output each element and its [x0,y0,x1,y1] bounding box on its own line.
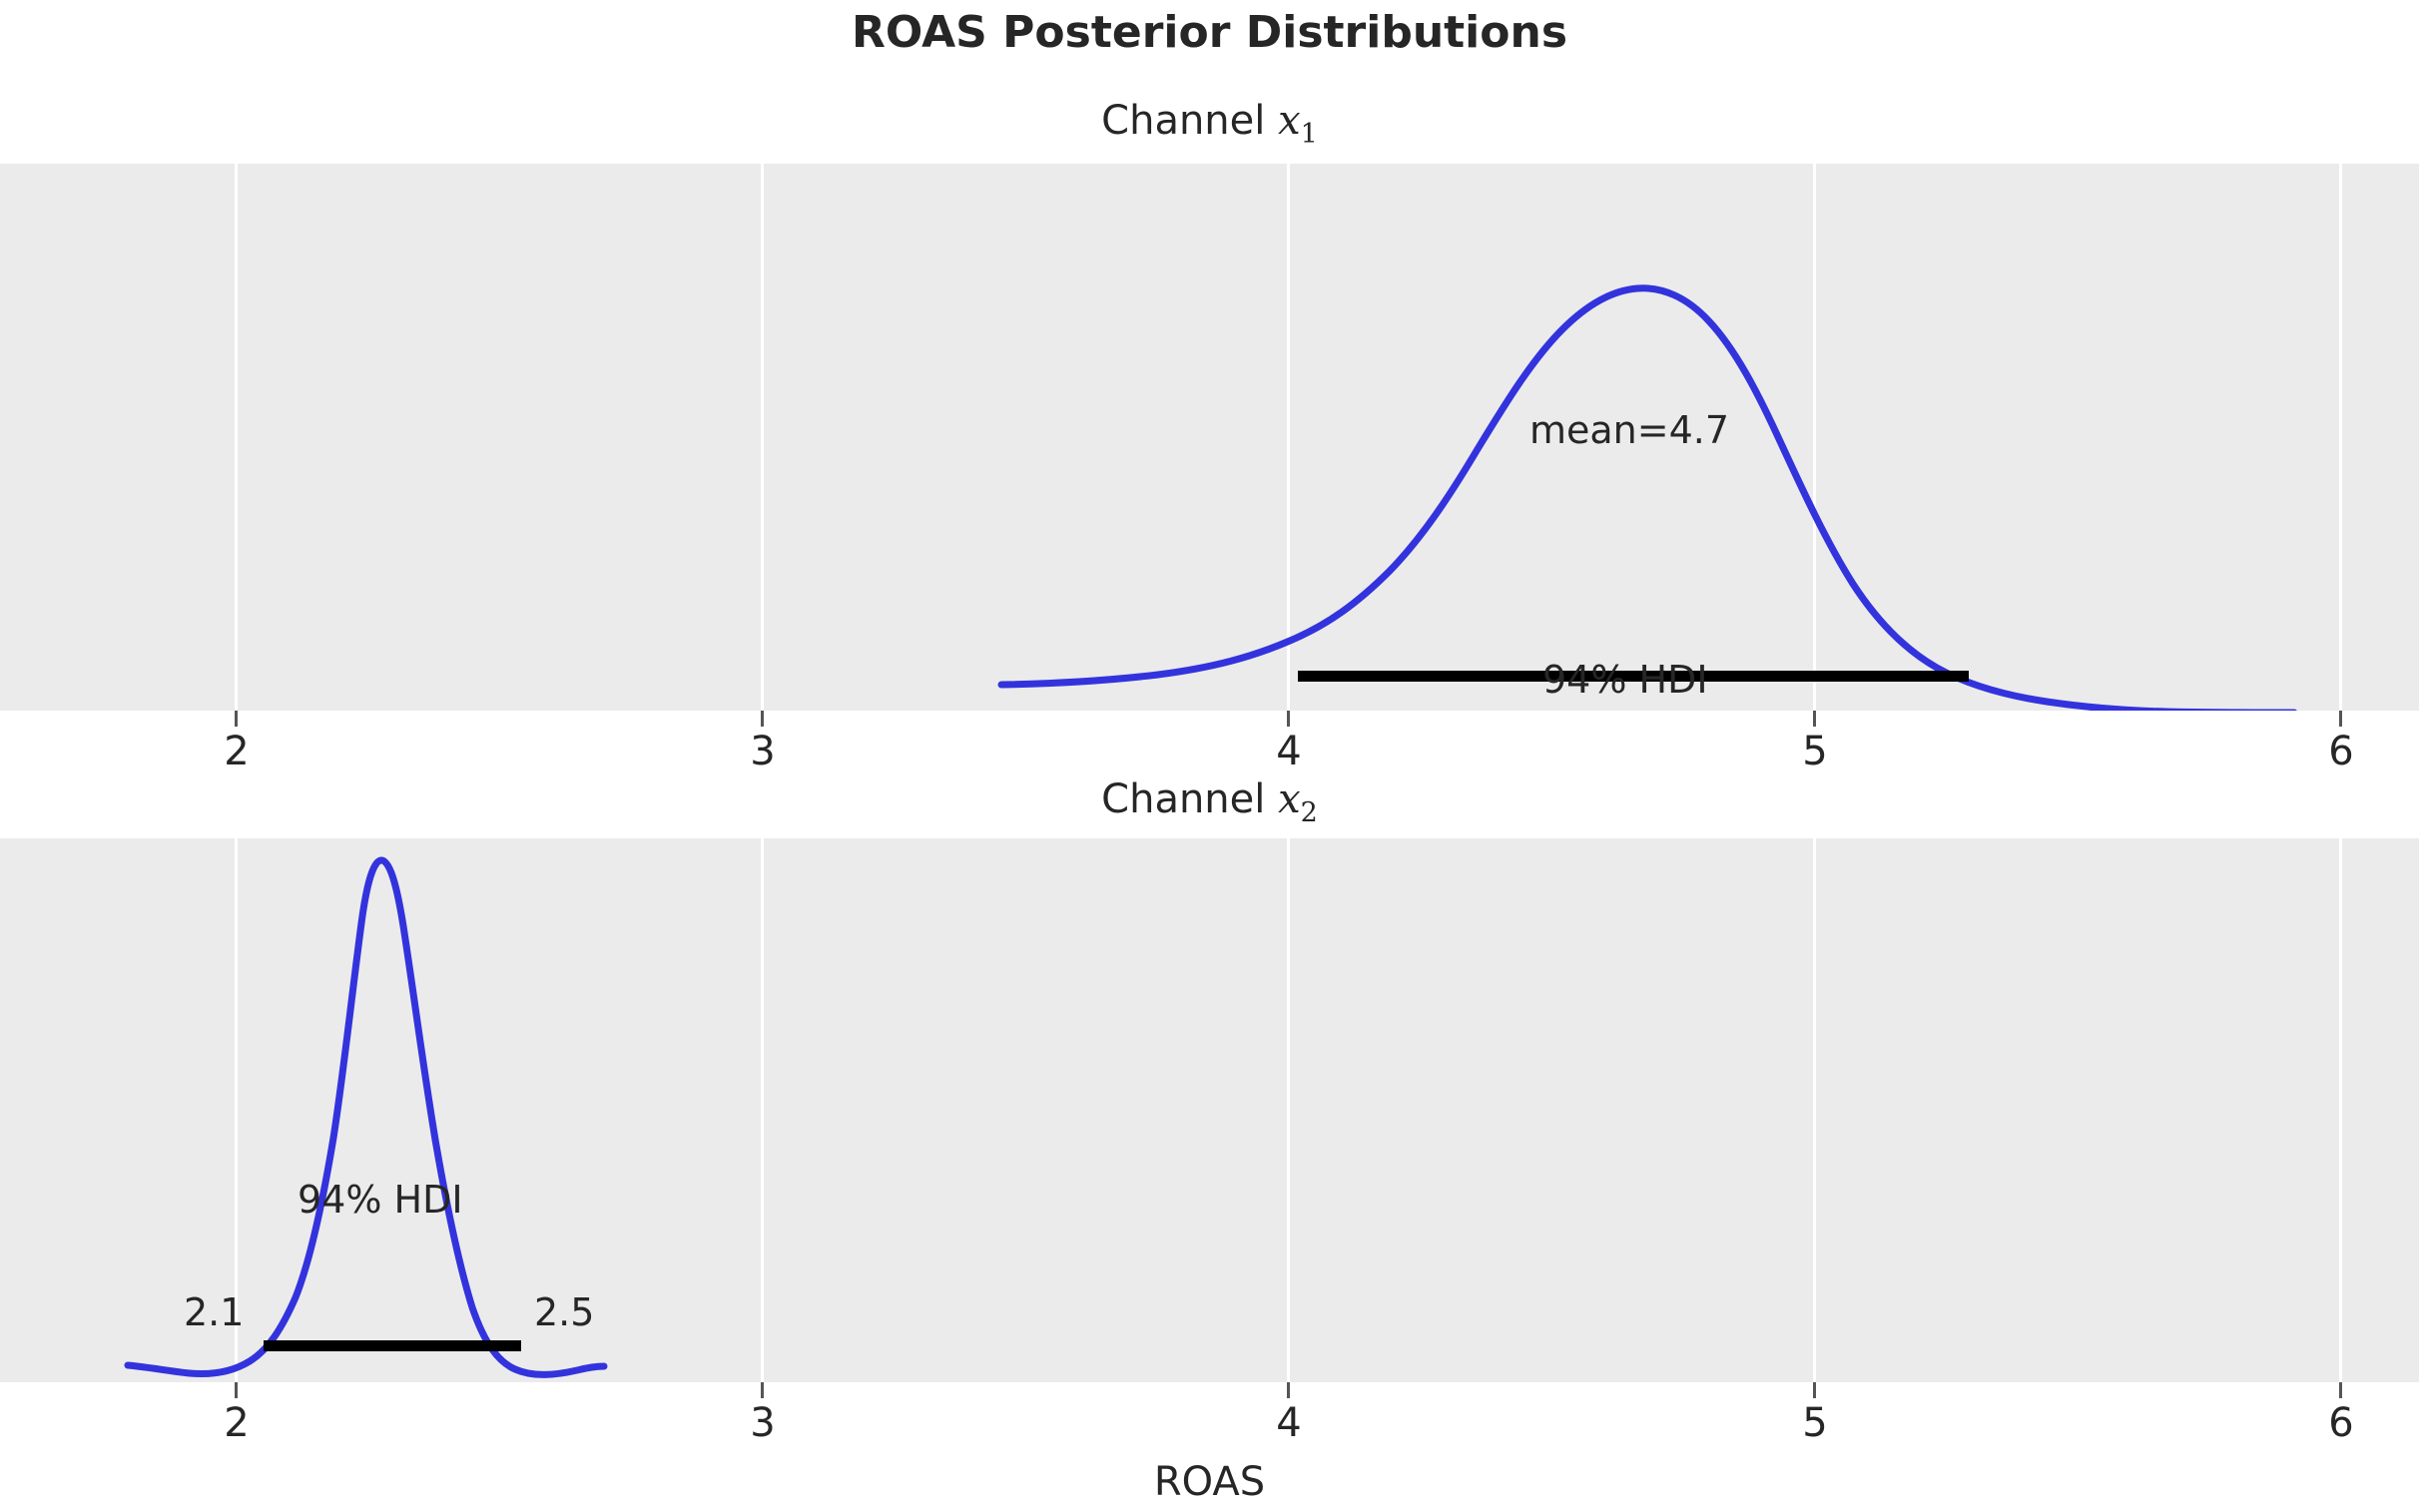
tick-mark-4 [1287,711,1290,727]
subplot-2-hdi-bar [264,1340,521,1351]
subplot-2-title: Channel x2 [0,776,2419,828]
xaxis-label: ROAS [0,1459,2419,1505]
subplot-2-hdi-low-label: 2.1 [184,1290,244,1334]
subplot-1-tick-label-1: 3 [750,729,775,774]
subplot-1-xaxis-ticks [0,711,2419,727]
tick-mark-3 [761,1382,764,1398]
subplot-2-xaxis-ticks [0,1382,2419,1398]
subplot-2-tick-label-0: 2 [224,1400,249,1446]
subplot-2-title-subscript: 2 [1301,797,1318,828]
subplot-1-mean-label: mean=4.7 [1529,408,1729,452]
subplot-1-title: Channel x1 [0,98,2419,150]
figure-canvas: ROAS Posterior Distributions Channel x1 … [0,0,2419,1512]
subplot-2-tick-label-2: 4 [1276,1400,1301,1446]
tick-mark-3 [761,711,764,727]
subplot-2-hdi-label: 94% HDI [298,1178,463,1222]
tick-mark-6 [2339,711,2342,727]
figure-title: ROAS Posterior Distributions [0,7,2419,58]
subplot-2-panel: mean=2.3 94% HDI 2.1 2.5 [0,838,2419,1382]
subplot-1-clip: mean=4.7 94% HDI 4 5.3 [0,164,2419,711]
subplot-1-hdi-label: 94% HDI [1542,658,1708,702]
subplot-1-panel: mean=4.7 94% HDI 4 5.3 [0,164,2419,711]
subplot-1-tick-label-3: 5 [1802,729,1827,774]
subplot-1-tick-label-4: 6 [2328,729,2353,774]
subplot-2-tick-label-1: 3 [750,1400,775,1446]
tick-mark-2 [235,1382,238,1398]
tick-mark-6 [2339,1382,2342,1398]
subplot-2-tick-label-4: 6 [2328,1400,2353,1446]
subplot-2-hdi-high-label: 2.5 [534,1290,594,1334]
subplot-1-title-subscript: 1 [1301,119,1318,150]
tick-mark-4 [1287,1382,1290,1398]
subplot-1-title-variable: x [1278,98,1301,144]
subplot-2-title-variable: x [1278,776,1301,822]
subplot-2-clip: mean=2.3 94% HDI 2.1 2.5 [0,838,2419,1382]
subplot-2-kde-curve [0,838,2419,1382]
tick-mark-2 [235,711,238,727]
subplot-1-title-prefix: Channel [1101,98,1278,144]
subplot-2-tick-label-3: 5 [1802,1400,1827,1446]
subplot-1-tick-label-0: 2 [224,729,249,774]
subplot-2-title-prefix: Channel [1101,776,1278,822]
subplot-1-kde-curve [0,164,2419,711]
tick-mark-5 [1813,1382,1816,1398]
tick-mark-5 [1813,711,1816,727]
subplot-1-tick-label-2: 4 [1276,729,1301,774]
